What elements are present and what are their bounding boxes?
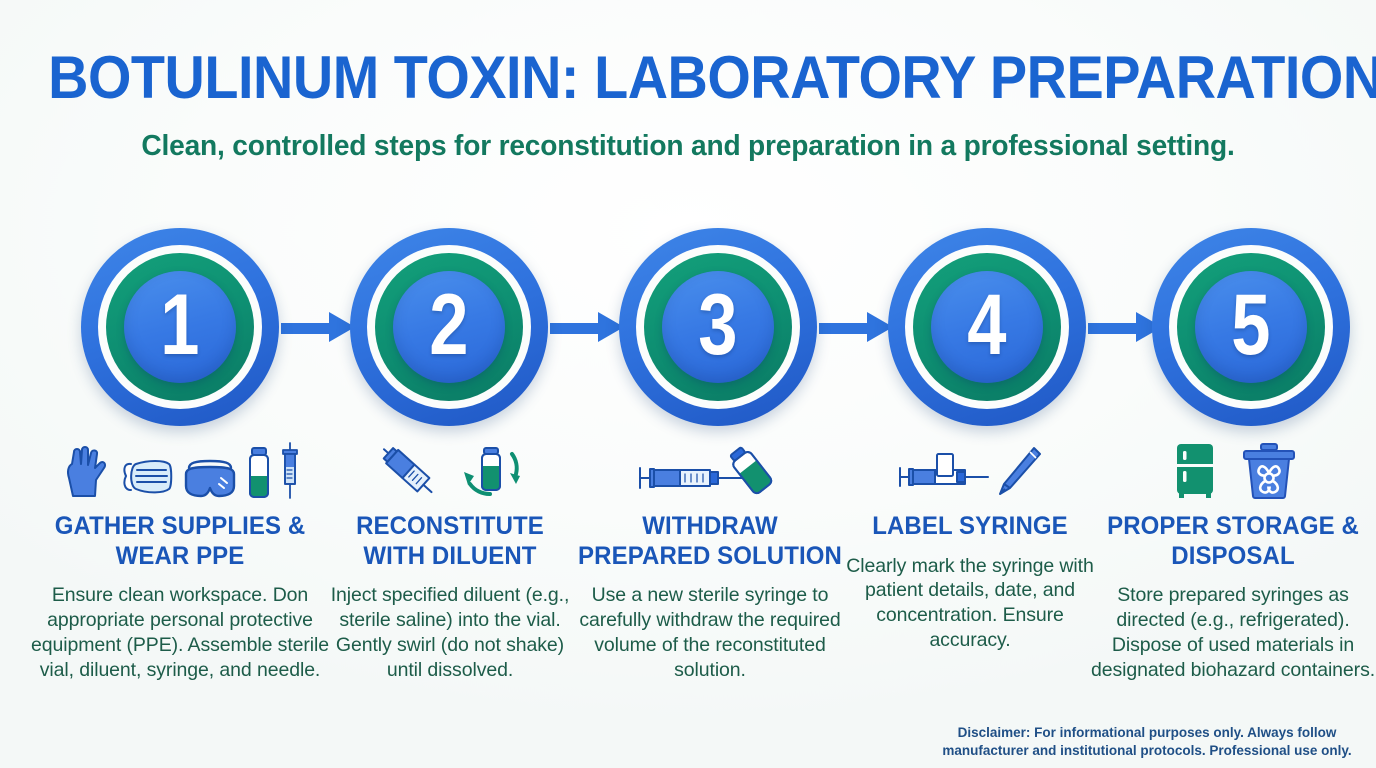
disclaimer-text: Disclaimer: For informational purposes o… bbox=[932, 724, 1362, 760]
header: BOTULINUM TOXIN: LABORATORY PREPARATION … bbox=[0, 0, 1376, 163]
ring-inner: 4 bbox=[931, 271, 1043, 383]
face-mask-icon bbox=[120, 454, 174, 500]
step-column-2: RECONSTITUTE WITH DILUENT Inject specifi… bbox=[317, 438, 583, 683]
step-circle-2[interactable]: 2 bbox=[350, 228, 548, 426]
step-column-5: PROPER STORAGE & DISPOSAL Store prepared… bbox=[1090, 438, 1376, 683]
flow-arrow-2-3 bbox=[550, 320, 624, 334]
labeled-syringe-icon bbox=[896, 446, 990, 500]
step-number: 4 bbox=[967, 282, 1006, 368]
syringe-diagonal-icon bbox=[372, 440, 442, 500]
step-circle-3[interactable]: 3 bbox=[619, 228, 817, 426]
refrigerator-icon bbox=[1169, 442, 1221, 500]
page-title: BOTULINUM TOXIN: LABORATORY PREPARATION … bbox=[48, 48, 1328, 108]
flow-arrow-4-5 bbox=[1088, 320, 1162, 334]
step-1-heading: GATHER SUPPLIES & WEAR PPE bbox=[26, 512, 333, 571]
step-5-icons bbox=[1090, 438, 1376, 500]
step-3-body: Use a new sterile syringe to carefully w… bbox=[572, 583, 848, 683]
step-4-icons bbox=[845, 438, 1095, 500]
ring-inner: 1 bbox=[124, 271, 236, 383]
step-5-body: Store prepared syringes as directed (e.g… bbox=[1090, 583, 1376, 683]
step-5-heading: PROPER STORAGE & DISPOSAL bbox=[1096, 512, 1371, 571]
vial-icon bbox=[246, 446, 272, 500]
syringe-icon bbox=[279, 442, 301, 500]
step-details: GATHER SUPPLIES & WEAR PPE Ensure clean … bbox=[0, 438, 1376, 738]
step-1-icons bbox=[20, 438, 340, 500]
flow-arrow-1-2 bbox=[281, 320, 355, 334]
step-column-4: LABEL SYRINGE Clearly mark the syringe w… bbox=[845, 438, 1095, 653]
step-number: 5 bbox=[1231, 282, 1270, 368]
step-2-icons bbox=[317, 438, 583, 500]
arrow-shaft bbox=[819, 323, 867, 334]
tilted-vial-icon bbox=[718, 442, 784, 500]
arrow-shaft bbox=[550, 323, 598, 334]
step-circle-4[interactable]: 4 bbox=[888, 228, 1086, 426]
step-circle-1[interactable]: 1 bbox=[81, 228, 279, 426]
step-1-body: Ensure clean workspace. Don appropriate … bbox=[20, 583, 340, 683]
step-3-heading: WITHDRAW PREPARED SOLUTION bbox=[578, 512, 843, 571]
step-number: 2 bbox=[429, 282, 468, 368]
step-number: 3 bbox=[698, 282, 737, 368]
ring-inner: 3 bbox=[662, 271, 774, 383]
pen-icon bbox=[992, 444, 1044, 500]
step-column-3: WITHDRAW PREPARED SOLUTION Use a new ste… bbox=[572, 438, 848, 683]
arrow-shaft bbox=[1088, 323, 1136, 334]
ring-inner: 5 bbox=[1195, 271, 1307, 383]
step-2-body: Inject specified diluent (e.g., sterile … bbox=[317, 583, 583, 683]
safety-goggles-icon bbox=[181, 458, 239, 500]
step-2-heading: RECONSTITUTE WITH DILUENT bbox=[322, 512, 577, 571]
step-4-body: Clearly mark the syringe with patient de… bbox=[845, 554, 1095, 654]
vial-swirl-arrows-icon bbox=[454, 440, 528, 500]
step-flow: 1 2 3 4 5 bbox=[0, 228, 1376, 428]
gloves-icon bbox=[59, 444, 113, 500]
step-3-icons bbox=[572, 438, 848, 500]
arrow-shaft bbox=[281, 323, 329, 334]
step-circle-5[interactable]: 5 bbox=[1152, 228, 1350, 426]
step-4-heading: LABEL SYRINGE bbox=[850, 512, 1090, 542]
step-column-1: GATHER SUPPLIES & WEAR PPE Ensure clean … bbox=[20, 438, 340, 683]
ring-inner: 2 bbox=[393, 271, 505, 383]
page-subtitle: Clean, controlled steps for reconstituti… bbox=[21, 130, 1356, 163]
biohazard-bin-icon bbox=[1241, 442, 1297, 500]
step-number: 1 bbox=[160, 282, 199, 368]
flow-arrow-3-4 bbox=[819, 320, 893, 334]
